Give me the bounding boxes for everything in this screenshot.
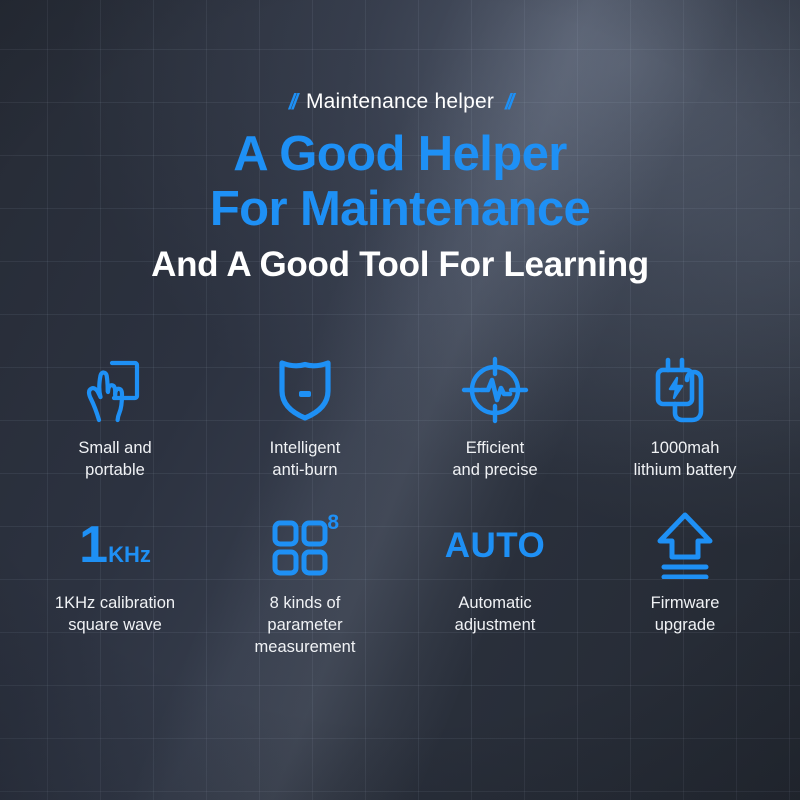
khz-number: 1 <box>79 519 107 571</box>
feature-label-line-2: and precise <box>452 459 537 481</box>
feature-label-line-1: 8 kinds of <box>255 592 356 614</box>
upload-arrow-icon <box>590 507 780 583</box>
feature-label: Automatic adjustment <box>455 592 536 636</box>
feature-label: Efficient and precise <box>452 437 537 481</box>
auto-word: AUTO <box>445 528 546 563</box>
feature-label: 1KHz calibration square wave <box>55 592 175 636</box>
slash-right-icon: // <box>505 91 511 113</box>
slash-left-icon: // <box>289 91 295 113</box>
feature-label-line-2: lithium battery <box>634 459 737 481</box>
shield-icon <box>210 352 400 428</box>
feature-parameter-measurement: 8 8 kinds of parameter measurement <box>210 507 400 658</box>
page-title-line-1: A Good Helper <box>0 127 800 182</box>
feature-label-line-2: parameter <box>255 614 356 636</box>
feature-label-line-1: Efficient <box>452 437 537 459</box>
feature-label-line-1: Firmware <box>651 592 720 614</box>
feature-label-line-2: adjustment <box>455 614 536 636</box>
feature-label-line-3: measurement <box>255 636 356 658</box>
crosshair-pulse-icon <box>400 352 590 428</box>
khz-unit: KHz <box>108 544 151 566</box>
page-title: A Good Helper For Maintenance <box>0 127 800 237</box>
feature-label-line-1: 1000mah <box>634 437 737 459</box>
feature-label: Small and portable <box>78 437 151 481</box>
feature-small-and-portable: Small and portable <box>20 352 210 481</box>
feature-label: 1000mah lithium battery <box>634 437 737 481</box>
feature-label-line-2: anti-burn <box>270 459 341 481</box>
feature-label-line-1: Small and <box>78 437 151 459</box>
feature-label-line-2: upgrade <box>651 614 720 636</box>
khz-text-icon: 1 KHz <box>20 507 210 583</box>
feature-label-line-2: square wave <box>55 614 175 636</box>
four-squares-grid-icon: 8 <box>210 507 400 583</box>
feature-grid: Small and portable Intelligent anti-burn <box>20 352 780 658</box>
feature-label: Firmware upgrade <box>651 592 720 636</box>
tagline: // Maintenance helper // <box>0 90 800 114</box>
feature-firmware-upgrade: Firmware upgrade <box>590 507 780 658</box>
feature-efficient-and-precise: Efficient and precise <box>400 352 590 481</box>
feature-label-line-1: 1KHz calibration <box>55 592 175 614</box>
feature-lithium-battery: 1000mah lithium battery <box>590 352 780 481</box>
hand-holding-device-icon <box>20 352 210 428</box>
charger-plug-icon <box>590 352 780 428</box>
page-title-line-2: For Maintenance <box>0 182 800 237</box>
feature-label: Intelligent anti-burn <box>270 437 341 481</box>
feature-automatic-adjustment: AUTO Automatic adjustment <box>400 507 590 658</box>
feature-1khz-calibration: 1 KHz 1KHz calibration square wave <box>20 507 210 658</box>
page-subtitle: And A Good Tool For Learning <box>0 245 800 285</box>
feature-row-1: Small and portable Intelligent anti-burn <box>20 352 780 481</box>
tagline-text: Maintenance helper <box>306 90 494 114</box>
feature-label-line-1: Automatic <box>455 592 536 614</box>
badge-count: 8 <box>327 512 339 533</box>
feature-label-line-2: portable <box>78 459 151 481</box>
feature-row-2: 1 KHz 1KHz calibration square wave 8 <box>20 507 780 658</box>
promo-content: // Maintenance helper // A Good Helper F… <box>0 0 800 800</box>
auto-text-icon: AUTO <box>400 507 590 583</box>
feature-label-line-1: Intelligent <box>270 437 341 459</box>
feature-label: 8 kinds of parameter measurement <box>255 592 356 658</box>
feature-intelligent-anti-burn: Intelligent anti-burn <box>210 352 400 481</box>
